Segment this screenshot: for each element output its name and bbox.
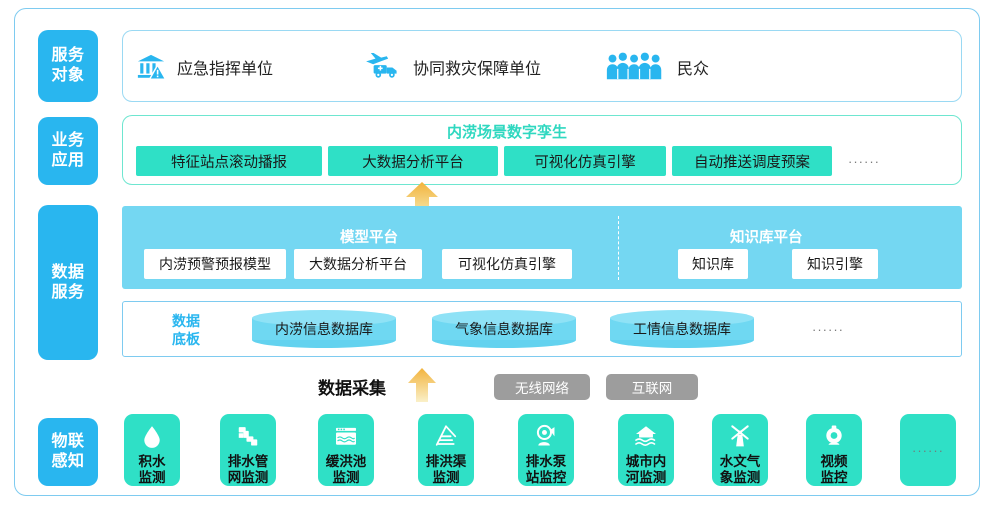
iot-tile-label: 排水泵 站监控 (526, 454, 567, 486)
data-base-more-dots: ······ (812, 322, 844, 337)
data-base-label-line1: 数据 (172, 313, 200, 329)
iot-tile-label-line1: 水文气 (720, 454, 761, 470)
iot-tile-label-line2: 站监控 (526, 470, 567, 486)
knowledge-platform-title: 知识库平台 (730, 226, 803, 247)
iot-tile-label-line1: 排水管 (228, 454, 269, 470)
service-object-item-public[interactable]: 民众 (604, 52, 709, 82)
pump-station-icon (529, 424, 563, 449)
detention-basin-icon (329, 424, 363, 449)
service-object-label: 民众 (677, 55, 709, 79)
layer-label-service-object: 服务 对象 (38, 30, 98, 102)
model-chip-label: 可视化仿真引擎 (458, 254, 556, 274)
arrow-collection-upward (406, 368, 438, 402)
iot-tile-label-line2: 监测 (326, 470, 367, 486)
iot-tile-hydrology-weather[interactable]: 水文气 象监测 (712, 414, 768, 486)
data-service-divider (618, 216, 619, 280)
flood-channel-icon (429, 424, 463, 449)
network-tag-internet[interactable]: 互联网 (606, 374, 698, 400)
layer-label-iot-sensing-line1: 物联 (51, 432, 84, 452)
layer-label-data-service: 数据 服务 (38, 205, 98, 360)
layer-label-data-service-line1: 数据 (51, 263, 84, 283)
knowledge-chip-label: 知识库 (692, 254, 734, 274)
layer-label-iot-sensing: 物联 感知 (38, 418, 98, 486)
network-tag-wireless[interactable]: 无线网络 (494, 374, 590, 400)
model-chip-label: 大数据分析平台 (309, 254, 407, 274)
layer-label-service-object-line2: 对象 (51, 66, 84, 86)
service-object-item-emergency-command[interactable]: 应急指挥单位 (136, 52, 273, 82)
app-tile-visual-simulation-engine[interactable]: 可视化仿真引擎 (504, 146, 666, 176)
layer-label-business-app-line2: 应用 (51, 151, 84, 171)
iot-tile-label: 积水 监测 (139, 454, 166, 486)
water-drop-icon (135, 424, 169, 449)
data-base-label-line2: 底板 (172, 331, 200, 347)
model-platform-title: 模型平台 (340, 226, 398, 247)
knowledge-chip-label: 知识引擎 (807, 254, 863, 274)
app-tile-label: 自动推送调度预案 (694, 151, 810, 172)
urban-river-icon (629, 424, 663, 449)
database-cylinder-meteorological[interactable]: 气象信息数据库 (432, 310, 576, 348)
video-camera-icon (817, 424, 851, 449)
iot-tile-label-line1: 缓洪池 (326, 454, 367, 470)
service-object-label: 协同救灾保障单位 (413, 55, 541, 79)
iot-tile-label-line2: 象监测 (720, 470, 761, 486)
iot-tile-label: 城市内 河监测 (626, 454, 667, 486)
weather-windmill-icon (723, 424, 757, 449)
app-tile-label: 可视化仿真引擎 (534, 151, 636, 172)
database-label: 工情信息数据库 (610, 310, 754, 348)
iot-more-dots: ······ (912, 443, 944, 458)
business-app-title: 内涝场景数字孪生 (447, 121, 567, 142)
iot-tile-flood-channel[interactable]: 排洪渠 监测 (418, 414, 474, 486)
database-cylinder-engineering[interactable]: 工情信息数据库 (610, 310, 754, 348)
iot-tile-video-surveillance[interactable]: 视频 监控 (806, 414, 862, 486)
layer-label-iot-sensing-line2: 感知 (51, 452, 84, 472)
iot-tile-label-line2: 监控 (821, 470, 848, 486)
iot-tile-label-line1: 排洪渠 (426, 454, 467, 470)
app-tile-auto-dispatch-plan[interactable]: 自动推送调度预案 (672, 146, 832, 176)
iot-tile-label: 缓洪池 监测 (326, 454, 367, 486)
app-tile-rolling-broadcast[interactable]: 特征站点滚动播报 (136, 146, 322, 176)
layer-label-data-service-line2: 服务 (51, 283, 84, 303)
app-tile-label: 大数据分析平台 (362, 151, 464, 172)
iot-tile-urban-river[interactable]: 城市内 河监测 (618, 414, 674, 486)
database-label: 气象信息数据库 (432, 310, 576, 348)
business-app-more-dots: ······ (848, 154, 880, 169)
iot-tile-label: 视频 监控 (821, 454, 848, 486)
data-collection-label: 数据采集 (318, 374, 386, 399)
iot-tile-more[interactable]: ······ (900, 414, 956, 486)
iot-tile-label-line1: 视频 (821, 454, 848, 470)
database-label: 内涝信息数据库 (252, 310, 396, 348)
iot-tile-label: 排洪渠 监测 (426, 454, 467, 486)
iot-tile-label: 水文气 象监测 (720, 454, 761, 486)
rescue-ambulance-plane-icon (364, 52, 402, 82)
app-tile-label: 特征站点滚动播报 (171, 151, 287, 172)
iot-tile-detention-basin[interactable]: 缓洪池 监测 (318, 414, 374, 486)
model-chip-warning-forecast[interactable]: 内涝预警预报模型 (144, 249, 286, 279)
service-object-label: 应急指挥单位 (177, 55, 273, 79)
iot-tile-label-line1: 城市内 (626, 454, 667, 470)
iot-tile-label: 排水管 网监测 (228, 454, 269, 486)
model-chip-label: 内涝预警预报模型 (159, 254, 271, 274)
emergency-command-bank-icon (136, 52, 166, 82)
knowledge-chip-knowledge-base[interactable]: 知识库 (678, 249, 748, 279)
layer-label-business-app: 业务 应用 (38, 117, 98, 185)
iot-tile-label-line1: 排水泵 (526, 454, 567, 470)
model-chip-bigdata-platform[interactable]: 大数据分析平台 (294, 249, 422, 279)
iot-tile-label-line2: 监测 (426, 470, 467, 486)
layer-label-business-app-line1: 业务 (51, 131, 84, 151)
drain-pipe-icon (231, 424, 265, 449)
people-group-icon (604, 52, 666, 82)
iot-tile-label-line2: 监测 (139, 470, 166, 486)
model-chip-visual-simulation-engine[interactable]: 可视化仿真引擎 (442, 249, 572, 279)
iot-tile-waterlogging-monitoring[interactable]: 积水 监测 (124, 414, 180, 486)
iot-tile-label-line2: 河监测 (626, 470, 667, 486)
iot-tile-label-line1: 积水 (139, 454, 166, 470)
data-base-label: 数据 底板 (158, 313, 214, 348)
layer-label-service-object-line1: 服务 (51, 46, 84, 66)
database-cylinder-waterlogging[interactable]: 内涝信息数据库 (252, 310, 396, 348)
iot-tile-label-line2: 网监测 (228, 470, 269, 486)
service-object-item-rescue-support[interactable]: 协同救灾保障单位 (364, 52, 541, 82)
iot-tile-pump-station[interactable]: 排水泵 站监控 (518, 414, 574, 486)
app-tile-bigdata-platform[interactable]: 大数据分析平台 (328, 146, 498, 176)
network-tag-label: 互联网 (632, 377, 673, 397)
knowledge-chip-knowledge-engine[interactable]: 知识引擎 (792, 249, 878, 279)
network-tag-label: 无线网络 (515, 377, 569, 397)
iot-tile-drainage-pipe-network[interactable]: 排水管 网监测 (220, 414, 276, 486)
